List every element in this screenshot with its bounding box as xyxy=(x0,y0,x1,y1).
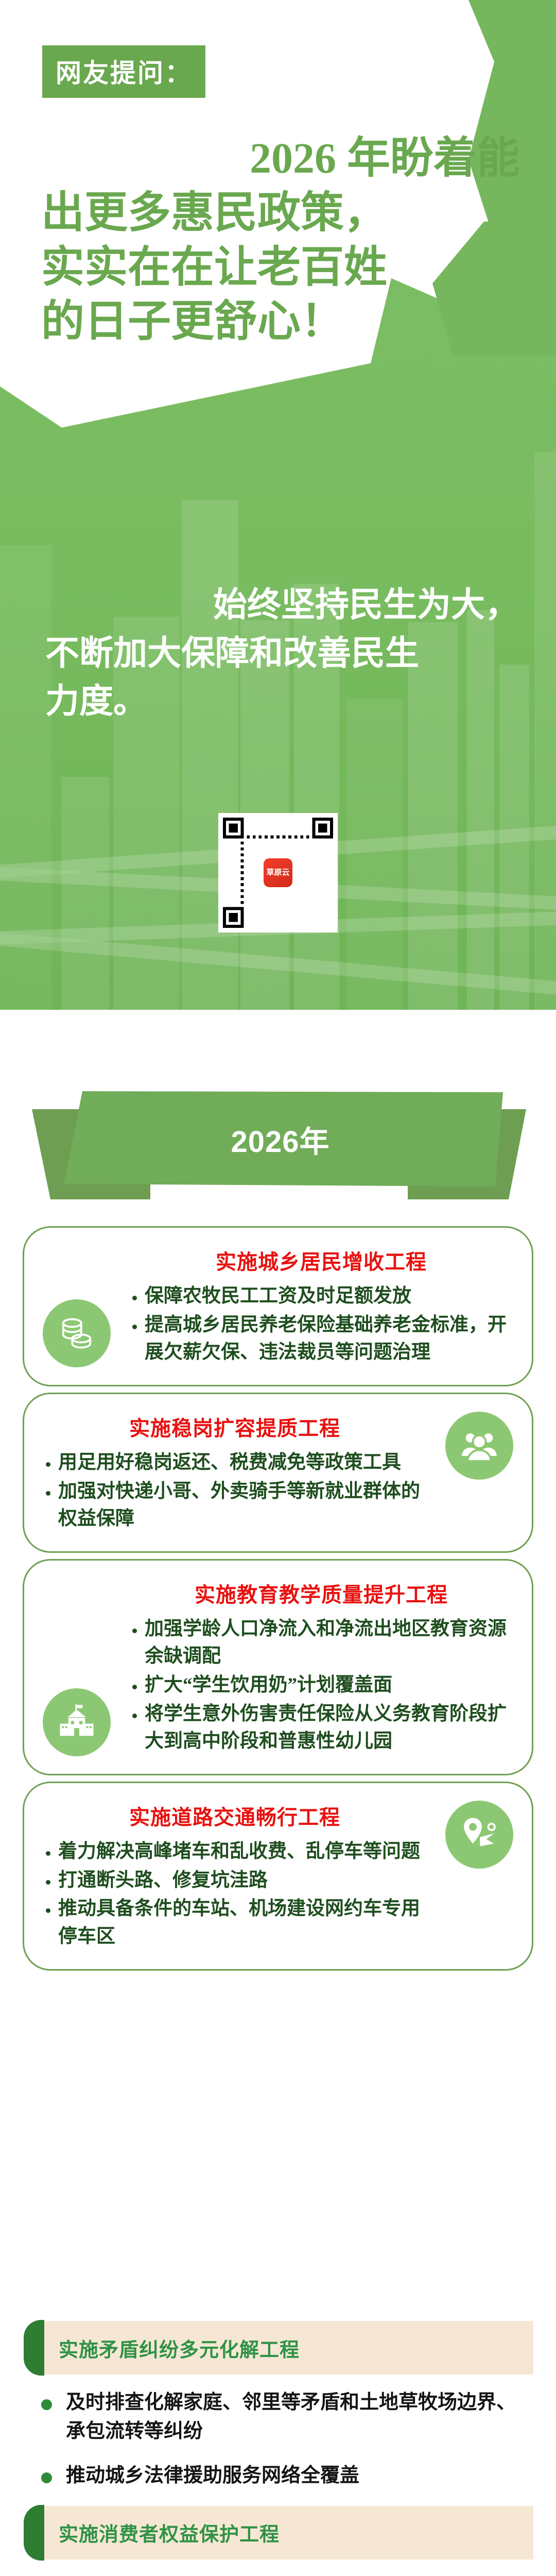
headline-line-1: 2026 年盼着能 xyxy=(41,131,520,186)
people-group-icon xyxy=(445,1412,513,1480)
section-title: 实施矛盾纠纷多元化解工程 xyxy=(59,2334,300,2362)
list-item: 推行“放心消费”、“线下无理由退货”双承诺 xyxy=(38,2573,525,2576)
policy-section-list: 实施矛盾纠纷多元化解工程及时排查化解家庭、邻里等矛盾和土地草牧场边界、承包流转等… xyxy=(0,2321,556,2576)
list-item: 加强对快递小哥、外卖骑手等新就业群体的权益保障 xyxy=(45,1478,425,1533)
list-item: 及时排查化解家庭、邻里等矛盾和土地草牧场边界、承包流转等纠纷 xyxy=(38,2388,525,2446)
policy-card: 实施城乡居民增收工程保障农牧民工工资及时足额发放提高城乡居民养老保险基础养老金标… xyxy=(23,1226,533,1386)
policy-card-bullets: 保障农牧民工工资及时足额发放提高城乡居民养老保险基础养老金标准，开展欠薪欠保、违… xyxy=(131,1282,511,1366)
headline-line-4: 的日子更舒心！ xyxy=(41,295,520,349)
list-item: 着力解决高峰堵车和乱收费、乱停车等问题 xyxy=(45,1838,425,1866)
section-banner: 实施消费者权益保护工程 xyxy=(35,2506,533,2560)
hero-subheadline: 始终坚持民生为大， 不断加大保障和改善民生 力度。 xyxy=(45,581,519,726)
policy-card: 实施稳岗扩容提质工程用足用好稳岗返还、税费减免等政策工具加强对快递小哥、外卖骑手… xyxy=(23,1393,533,1553)
page-title: 2026 年盼着能 出更多惠民政策， 实实在在让老百姓 的日子更舒心！ xyxy=(41,131,520,349)
policy-card-title: 实施道路交通畅行工程 xyxy=(45,1801,425,1831)
section-bullets: 及时排查化解家庭、邻里等矛盾和土地草牧场边界、承包流转等纠纷推动城乡法律援助服务… xyxy=(38,2388,525,2490)
list-item: 将学生意外伤害责任保险从义务教育阶段扩大到高中阶段和普惠性幼儿园 xyxy=(131,1700,511,1755)
infographic-poster: 网友提问： 2026 年盼着能 出更多惠民政策， 实实在在让老百姓 的日子更舒心… xyxy=(0,0,556,2576)
section-title: 实施消费者权益保护工程 xyxy=(59,2518,280,2547)
policy-card-bullets: 加强学龄人口净流入和净流出地区教育资源余缺调配扩大“学生饮用奶”计划覆盖面将学生… xyxy=(131,1615,511,1755)
list-item: 打通断头路、修复坑洼路 xyxy=(45,1867,425,1894)
section-banner: 实施矛盾纠纷多元化解工程 xyxy=(35,2321,533,2375)
qr-center-logo: 草原云 xyxy=(264,858,292,887)
policy-card-title: 实施教育教学质量提升工程 xyxy=(131,1578,511,1608)
list-item: 保障农牧民工工资及时足额发放 xyxy=(131,1282,511,1310)
headline-line-2: 出更多惠民政策， xyxy=(41,186,520,241)
subheadline-line-3: 力度。 xyxy=(45,677,519,726)
policy-card-title: 实施稳岗扩容提质工程 xyxy=(45,1412,425,1442)
school-building-icon xyxy=(43,1688,111,1756)
policy-card-list: 实施城乡居民增收工程保障农牧民工工资及时足额发放提高城乡居民养老保险基础养老金标… xyxy=(0,1226,556,1977)
list-item: 加强学龄人口净流入和净流出地区教育资源余缺调配 xyxy=(131,1615,511,1670)
list-item: 推动具备条件的车站、机场建设网约车专用停车区 xyxy=(45,1895,425,1950)
list-item: 用足用好稳岗返还、税费减免等政策工具 xyxy=(45,1449,425,1477)
policy-card-title: 实施城乡居民增收工程 xyxy=(131,1245,511,1275)
coins-icon xyxy=(43,1299,111,1367)
policy-card-bullets: 用足用好稳岗返还、税费减免等政策工具加强对快递小哥、外卖骑手等新就业群体的权益保… xyxy=(45,1449,425,1533)
subheadline-line-2: 不断加大保障和改善民生 xyxy=(45,630,519,678)
list-item: 推动城乡法律援助服务网络全覆盖 xyxy=(38,2461,525,2490)
list-item: 扩大“学生饮用奶”计划覆盖面 xyxy=(131,1671,511,1699)
qr-code-matrix: 草原云 xyxy=(223,818,333,928)
policy-card: 实施道路交通畅行工程着力解决高峰堵车和乱收费、乱停车等问题打通断头路、修复坑洼路… xyxy=(23,1782,533,1971)
netizen-question-tag: 网友提问： xyxy=(42,45,205,98)
ribbon-body: 2026年 xyxy=(58,1091,503,1187)
headline-line-3: 实实在在让老百姓 xyxy=(41,241,520,295)
section-bullets: 推行“放心消费”、“线下无理由退货”双承诺实行农批农贸市场食用农产品“天天检” xyxy=(38,2573,525,2576)
hero-section: 网友提问： 2026 年盼着能 出更多惠民政策， 实实在在让老百姓 的日子更舒心… xyxy=(0,0,556,1010)
policy-card-bullets: 着力解决高峰堵车和乱收费、乱停车等问题打通断头路、修复坑洼路推动具备条件的车站、… xyxy=(45,1838,425,1951)
netizen-question-label: 网友提问： xyxy=(56,59,192,88)
subheadline-line-1: 始终坚持民生为大， xyxy=(45,581,519,630)
policy-section: 实施矛盾纠纷多元化解工程及时排查化解家庭、邻里等矛盾和土地草牧场边界、承包流转等… xyxy=(0,2321,556,2490)
qr-code[interactable]: 草原云 xyxy=(218,813,338,933)
policy-card: 实施教育教学质量提升工程加强学龄人口净流入和净流出地区教育资源余缺调配扩大“学生… xyxy=(23,1559,533,1775)
year-ribbon: 2026年 xyxy=(0,1055,556,1210)
list-item: 提高城乡居民养老保险基础养老金标准，开展欠薪欠保、违法裁员等问题治理 xyxy=(131,1311,511,1366)
ribbon-year-label: 2026年 xyxy=(231,1117,329,1161)
policy-section: 实施消费者权益保护工程推行“放心消费”、“线下无理由退货”双承诺实行农批农贸市场… xyxy=(0,2506,556,2576)
map-pin-icon xyxy=(445,1801,513,1869)
